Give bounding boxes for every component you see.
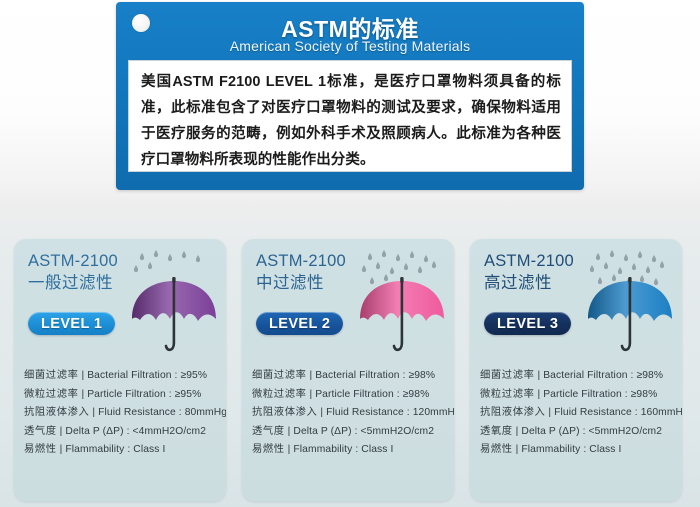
spec-label-cn: 易燃性	[480, 444, 513, 455]
spec-list: 细菌过滤率 | Bacterial Filtration : ≥95%微粒过滤率…	[24, 367, 220, 460]
umbrella-illustration	[354, 247, 450, 359]
spec-label-en: Delta P (ΔP)	[521, 426, 579, 437]
spec-label-en: Fluid Resistance	[98, 407, 176, 418]
spec-label-en: Particle Filtration	[87, 389, 166, 400]
spec-list: 细菌过滤率 | Bacterial Filtration : ≥98%微粒过滤率…	[252, 367, 448, 460]
spec-value: ≥98%	[631, 389, 658, 400]
level-card-3[interactable]: ASTM-2100 高过滤性 LEVEL 3 细菌过滤率 | Bacterial…	[470, 239, 682, 501]
spec-label-en: Delta P (ΔP)	[65, 426, 123, 437]
spec-value: ≥95%	[175, 389, 202, 400]
spec-row: 透气度 | Delta P (ΔP) : <4mmH2O/cm2	[24, 423, 220, 442]
umbrella-icon	[354, 277, 450, 359]
spec-label-en: Fluid Resistance	[326, 407, 404, 418]
spec-value: Class I	[133, 444, 165, 455]
spec-value: <4mmH2O/cm2	[133, 426, 206, 437]
spec-label-cn: 抗阻液体渗入	[24, 407, 89, 418]
umbrella-illustration	[582, 247, 678, 359]
spec-value: <5mmH2O/cm2	[589, 426, 662, 437]
spec-value: Class I	[589, 444, 621, 455]
description-text: 美国ASTM F2100 LEVEL 1标准，是医疗口罩物料须具备的标准，此标准…	[141, 69, 561, 173]
spec-row: 细菌过滤率 | Bacterial Filtration : ≥98%	[480, 367, 676, 386]
spec-label-cn: 微粒过滤率	[24, 389, 78, 400]
page-subtitle: American Society of Testing Materials	[116, 38, 584, 54]
page-root: ASTM的标准 American Society of Testing Mate…	[0, 0, 700, 507]
umbrella-illustration	[126, 247, 222, 359]
spec-value: ≥95%	[180, 370, 207, 381]
spec-row: 抗阻液体渗入 | Fluid Resistance : 80mmHg	[24, 404, 220, 423]
spec-value: 80mmHg	[185, 407, 226, 418]
spec-row: 微粒过滤率 | Particle Filtration : ≥95%	[24, 386, 220, 405]
spec-label-en: Particle Filtration	[315, 389, 394, 400]
spec-label-cn: 细菌过滤率	[480, 370, 534, 381]
spec-label-cn: 透氧度	[480, 426, 513, 437]
spec-value: 160mmHg	[641, 407, 682, 418]
spec-label-cn: 易燃性	[24, 444, 57, 455]
spec-label-en: Flammability	[65, 444, 124, 455]
spec-row: 易燃性 | Flammability : Class I	[480, 441, 676, 460]
spec-row: 抗阻液体渗入 | Fluid Resistance : 120mmHg	[252, 404, 448, 423]
level-badge[interactable]: LEVEL 1	[28, 312, 115, 335]
spec-label-cn: 细菌过滤率	[24, 370, 78, 381]
spec-row: 细菌过滤率 | Bacterial Filtration : ≥98%	[252, 367, 448, 386]
spec-label-en: Delta P (ΔP)	[293, 426, 351, 437]
spec-value: <5mmH2O/cm2	[361, 426, 434, 437]
spec-label-en: Flammability	[293, 444, 352, 455]
spec-row: 易燃性 | Flammability : Class I	[252, 441, 448, 460]
spec-value: ≥98%	[408, 370, 435, 381]
astm-info-panel: ASTM的标准 American Society of Testing Mate…	[116, 2, 584, 190]
spec-label-en: Bacterial Filtration	[87, 370, 171, 381]
spec-row: 微粒过滤率 | Particle Filtration : ≥98%	[480, 386, 676, 405]
spec-list: 细菌过滤率 | Bacterial Filtration : ≥98%微粒过滤率…	[480, 367, 676, 460]
spec-label-cn: 抗阻液体渗入	[480, 407, 545, 418]
spec-value: ≥98%	[403, 389, 430, 400]
spec-value: Class I	[361, 444, 393, 455]
spec-label-en: Bacterial Filtration	[543, 370, 627, 381]
spec-row: 透氧度 | Delta P (ΔP) : <5mmH2O/cm2	[480, 423, 676, 442]
spec-label-cn: 易燃性	[252, 444, 285, 455]
spec-row: 透气度 | Delta P (ΔP) : <5mmH2O/cm2	[252, 423, 448, 442]
spec-row: 易燃性 | Flammability : Class I	[24, 441, 220, 460]
level-card-2[interactable]: ASTM-2100 中过滤性 LEVEL 2 细菌过滤率 | Bacterial…	[242, 239, 454, 501]
spec-label-en: Bacterial Filtration	[315, 370, 399, 381]
level-card-list: ASTM-2100 一般过滤性 LEVEL 1 细菌过滤率 | Bacteria…	[0, 207, 700, 507]
spec-row: 微粒过滤率 | Particle Filtration : ≥98%	[252, 386, 448, 405]
spec-label-cn: 透气度	[24, 426, 57, 437]
umbrella-icon	[582, 277, 678, 359]
spec-label-cn: 微粒过滤率	[252, 389, 306, 400]
spec-label-cn: 细菌过滤率	[252, 370, 306, 381]
spec-row: 抗阻液体渗入 | Fluid Resistance : 160mmHg	[480, 404, 676, 423]
spec-label-cn: 抗阻液体渗入	[252, 407, 317, 418]
spec-label-en: Flammability	[521, 444, 580, 455]
description-box: 美国ASTM F2100 LEVEL 1标准，是医疗口罩物料须具备的标准，此标准…	[128, 60, 572, 172]
spec-label-en: Fluid Resistance	[554, 407, 632, 418]
spec-label-cn: 透气度	[252, 426, 285, 437]
level-badge[interactable]: LEVEL 2	[256, 312, 343, 335]
levels-section: ASTM-2100 一般过滤性 LEVEL 1 细菌过滤率 | Bacteria…	[0, 207, 700, 507]
level-card-1[interactable]: ASTM-2100 一般过滤性 LEVEL 1 细菌过滤率 | Bacteria…	[14, 239, 226, 501]
umbrella-icon	[126, 277, 222, 359]
spec-row: 细菌过滤率 | Bacterial Filtration : ≥95%	[24, 367, 220, 386]
spec-label-cn: 微粒过滤率	[480, 389, 534, 400]
spec-value: ≥98%	[636, 370, 663, 381]
spec-value: 120mmHg	[413, 407, 454, 418]
header-section: ASTM的标准 American Society of Testing Mate…	[0, 0, 700, 207]
level-badge[interactable]: LEVEL 3	[484, 312, 571, 335]
spec-label-en: Particle Filtration	[543, 389, 622, 400]
